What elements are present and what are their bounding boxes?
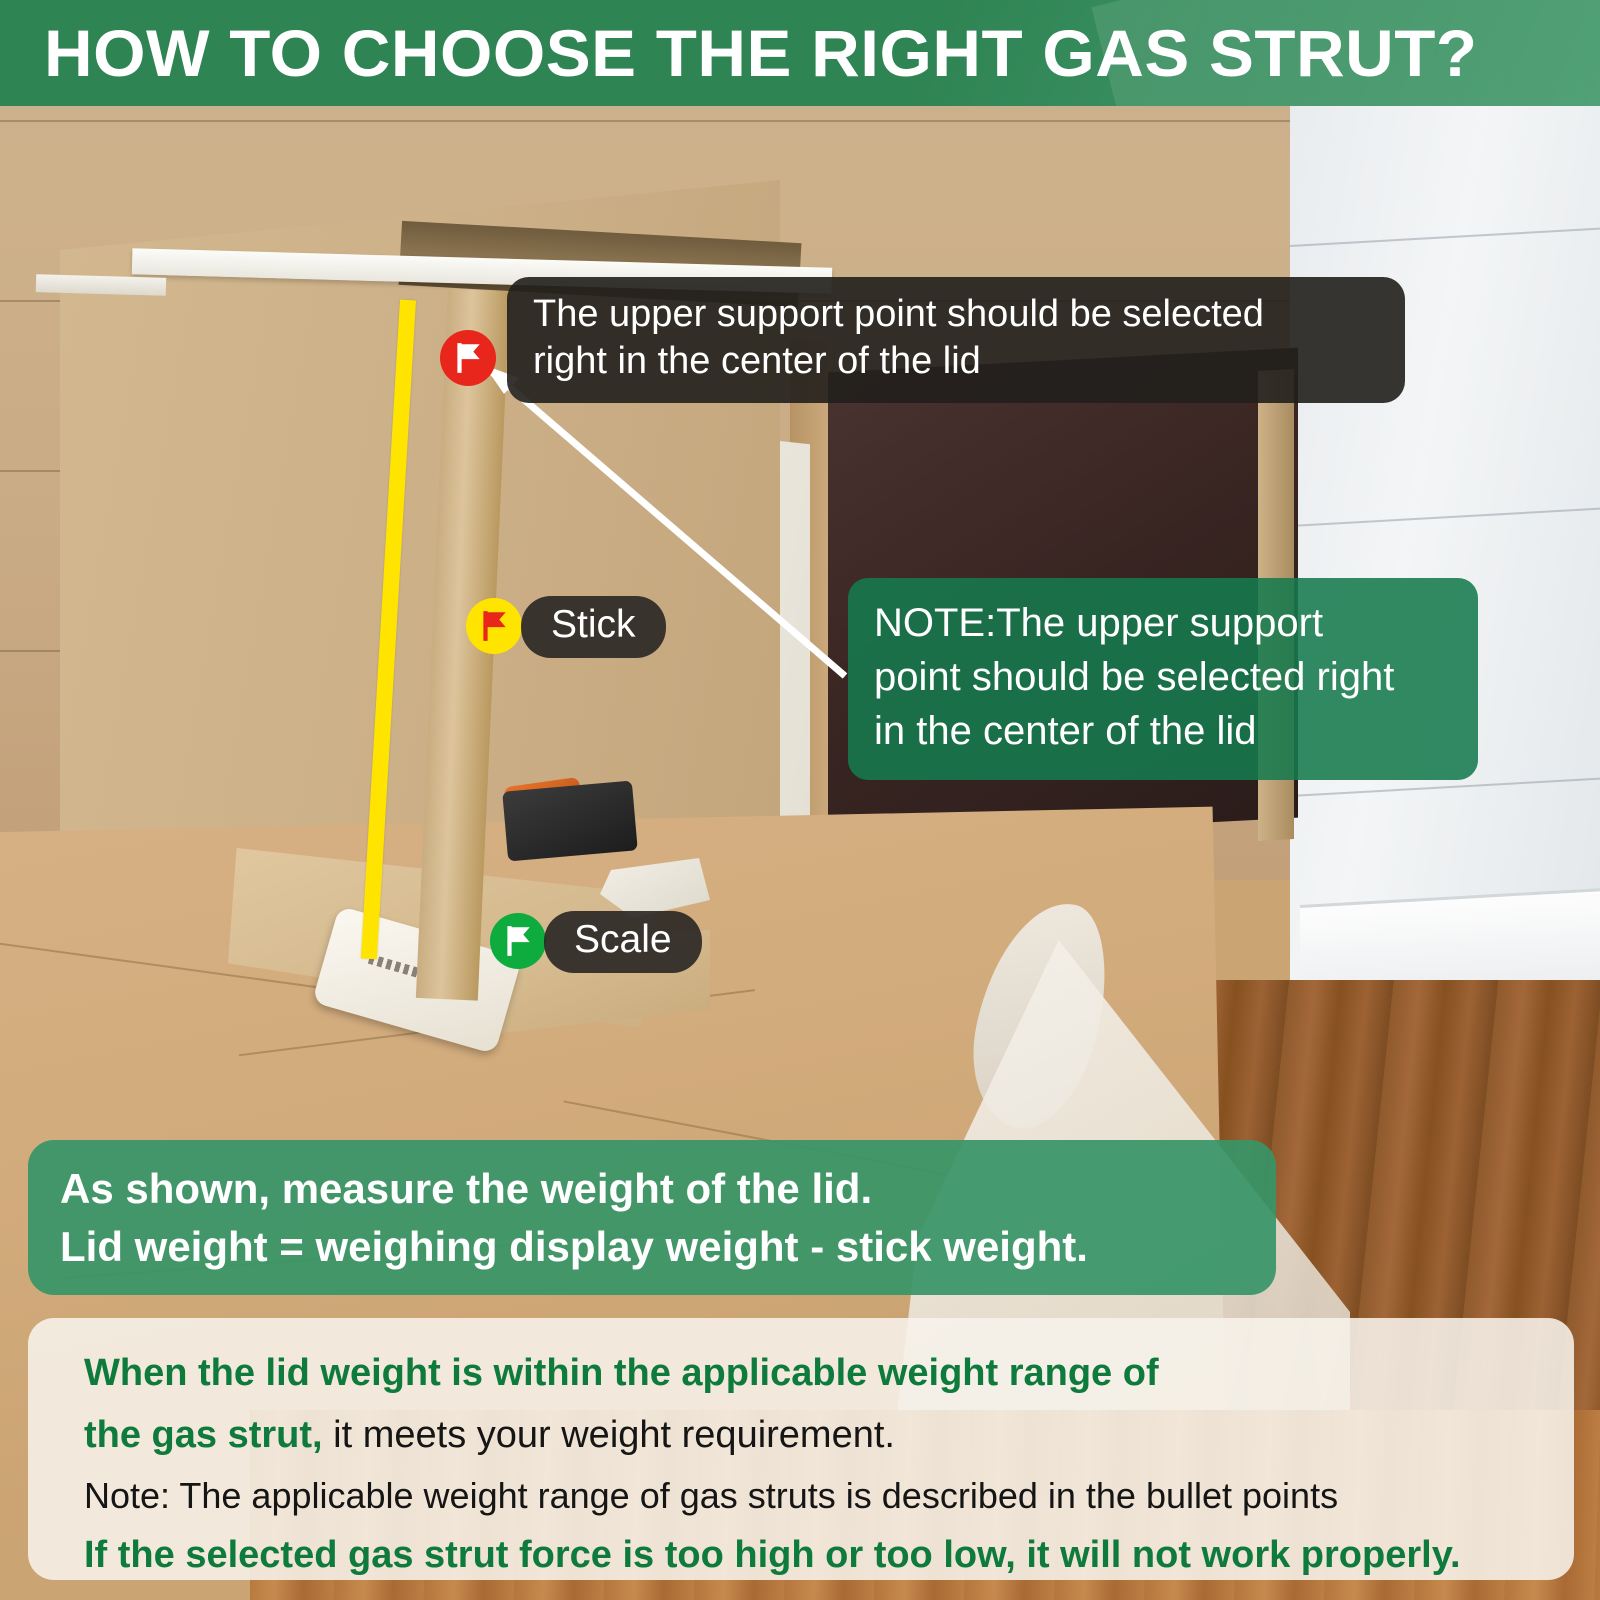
tooltip-upper-support-point: The upper support point should be select… [507, 277, 1405, 403]
summary-green-line-2: Lid weight = weighing display weight - s… [60, 1218, 1276, 1276]
summary-white-line-4: If the selected gas strut force is too h… [84, 1526, 1574, 1584]
lid-top-board-tail [36, 274, 166, 296]
summary-white-line-3: Note: The applicable weight range of gas… [84, 1466, 1574, 1526]
note-callout: NOTE:The upper support point should be s… [848, 578, 1478, 780]
infographic-canvas: HOW TO CHOOSE THE RIGHT GAS STRUT? The u… [0, 0, 1600, 1600]
marker-stick[interactable] [466, 598, 522, 654]
summary-white-line-2-rest: it meets your weight requirement. [323, 1414, 895, 1456]
flag-icon [501, 924, 535, 958]
summary-white-line-1: When the lid weight is within the applic… [84, 1342, 1574, 1404]
summary-green-box: As shown, measure the weight of the lid.… [28, 1140, 1276, 1295]
summary-white-box: When the lid weight is within the applic… [28, 1318, 1574, 1580]
summary-white-line-2-bold: the gas strut, [84, 1414, 323, 1456]
flag-icon [451, 341, 485, 375]
page-title: HOW TO CHOOSE THE RIGHT GAS STRUT? [44, 12, 1478, 94]
tooltip-line-1: The upper support point should be select… [533, 291, 1379, 338]
note-line-1: NOTE:The upper support [874, 596, 1452, 650]
tooltip-line-2: right in the center of the lid [533, 338, 1379, 385]
summary-green-line-1: As shown, measure the weight of the lid. [60, 1160, 1276, 1218]
summary-white-line-2: the gas strut, it meets your weight requ… [84, 1404, 1574, 1466]
label-scale: Scale [544, 911, 702, 973]
marker-upper-support-point[interactable] [440, 330, 496, 386]
note-line-3: in the center of the lid [874, 704, 1452, 758]
header-banner: HOW TO CHOOSE THE RIGHT GAS STRUT? [0, 0, 1600, 106]
flag-icon [477, 609, 511, 643]
drill-battery [502, 780, 638, 861]
note-line-2: point should be selected right [874, 650, 1452, 704]
marker-scale[interactable] [490, 913, 546, 969]
label-stick: Stick [521, 596, 666, 658]
